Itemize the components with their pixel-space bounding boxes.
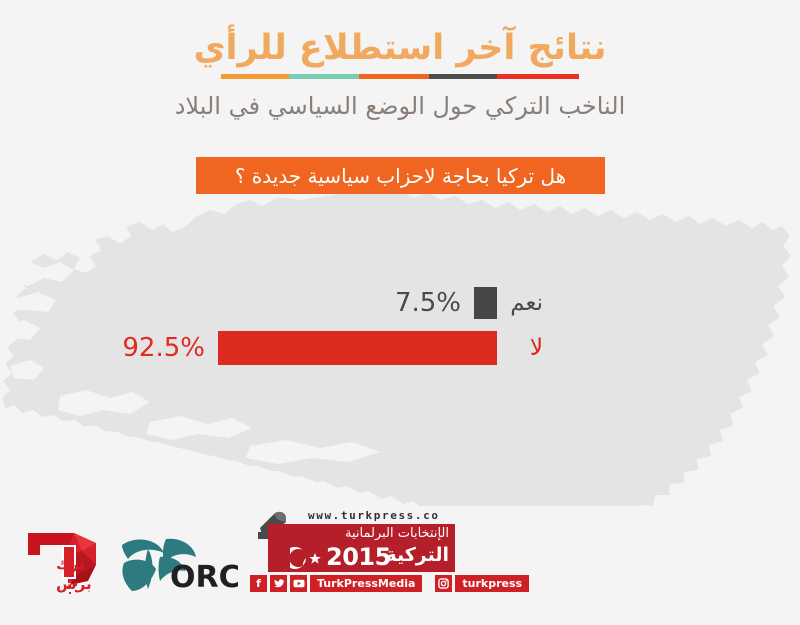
value-label-no: 92.5% <box>122 333 218 363</box>
divider-segment-3 <box>359 74 429 79</box>
page-handle[interactable]: TurkPressMedia <box>310 575 422 592</box>
divider-segment-4 <box>429 74 497 79</box>
page-title: نتائج آخر استطلاع للرأي <box>0 0 800 68</box>
turkpress-logo-line2: برس <box>56 575 92 593</box>
youtube-icon[interactable] <box>290 575 307 592</box>
title-divider <box>221 74 579 79</box>
badge-body: الإنتخابات البرلمانية التركية 2015 <box>268 524 455 572</box>
divider-segment-5 <box>497 74 579 79</box>
divider-segment-1 <box>221 74 289 79</box>
instagram-handle[interactable]: turkpress <box>455 575 529 592</box>
orc-logo-text: ORC <box>170 560 238 595</box>
value-label-yes: 7.5% <box>395 288 474 318</box>
divider-segment-2 <box>289 74 359 79</box>
category-label-no: لا <box>497 335 545 361</box>
orc-logo[interactable]: ORC <box>108 529 238 597</box>
badge-line2: التركية <box>385 544 449 566</box>
twitter-icon[interactable] <box>270 575 287 592</box>
instagram-icon[interactable] <box>435 575 452 592</box>
badge-year: 2015 <box>326 543 391 571</box>
bar-yes <box>474 287 497 319</box>
badge-line1: الإنتخابات البرلمانية <box>345 526 449 541</box>
social-bar: f TurkPressMedia <box>250 575 529 592</box>
facebook-icon[interactable]: f <box>250 575 267 592</box>
badge-url: www.turkpress.co <box>308 509 440 522</box>
turkpress-logo[interactable]: ترك برس <box>12 525 104 601</box>
crescent-star-icon <box>290 545 324 571</box>
chart-row-yes-inner: نعم 7.5% <box>395 287 545 319</box>
election-badge[interactable]: www.turkpress.co الإنتخابات البرلمانية ا… <box>250 505 455 603</box>
page-subtitle: الناخب التركي حول الوضع السياسي في البلا… <box>0 79 800 121</box>
category-label-yes: نعم <box>497 290 545 316</box>
bar-no <box>218 331 497 365</box>
footer: ترك برس ORC www.turkpress.co <box>0 505 800 625</box>
header: نتائج آخر استطلاع للرأي الناخب التركي حو… <box>0 0 800 121</box>
infographic-canvas: نتائج آخر استطلاع للرأي الناخب التركي حو… <box>0 0 800 625</box>
chart-row-yes: نعم 7.5% <box>0 283 800 323</box>
chart-row-no-inner: لا 92.5% <box>122 331 545 365</box>
poll-bar-chart: نعم 7.5% لا 92.5% <box>0 283 800 373</box>
chart-row-no: لا 92.5% <box>0 326 800 370</box>
question-banner: هل تركيا بحاجة لاحزاب سياسية جديدة ؟ <box>196 157 605 194</box>
question-text: هل تركيا بحاجة لاحزاب سياسية جديدة ؟ <box>235 166 566 186</box>
turkpress-logo-line1: ترك <box>56 555 85 573</box>
